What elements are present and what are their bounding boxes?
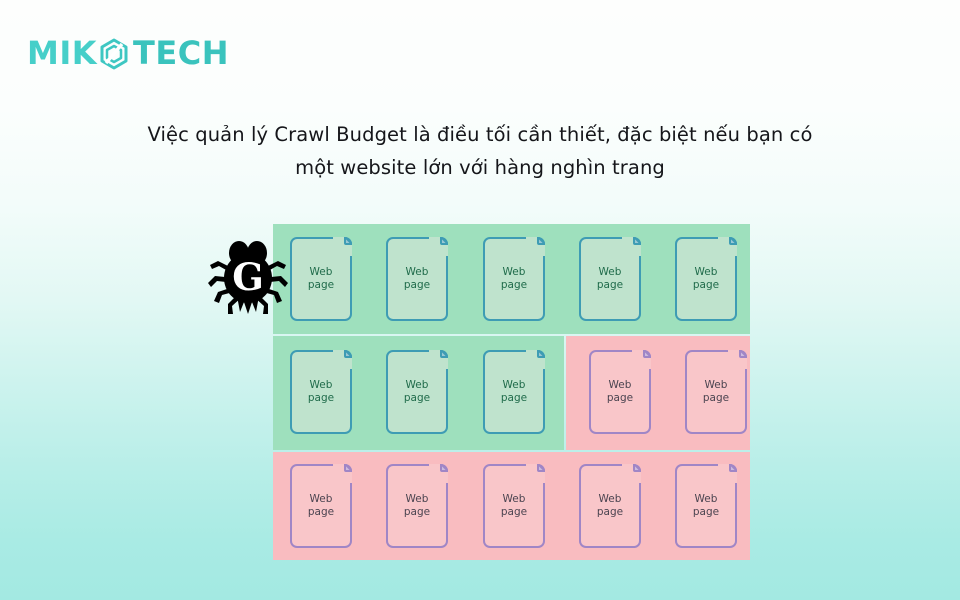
- page-title: Việc quản lý Crawl Budget là điều tối cầ…: [0, 118, 960, 184]
- web-page-card-label: Webpage: [308, 266, 334, 293]
- web-page-card: Webpage: [579, 464, 641, 548]
- web-page-card: Webpage: [290, 237, 352, 321]
- page-fold-corner-icon: [718, 464, 737, 483]
- page-fold-corner-icon: [429, 464, 448, 483]
- web-page-card-label: Webpage: [703, 379, 729, 406]
- web-page-card: Webpage: [386, 464, 448, 548]
- web-page-card-label: Webpage: [501, 493, 527, 520]
- web-page-card: Webpage: [589, 350, 651, 434]
- web-page-card-label: Webpage: [693, 493, 719, 520]
- web-page-card-label: Webpage: [308, 379, 334, 406]
- web-page-card-label: Webpage: [404, 266, 430, 293]
- page-fold-corner-icon: [526, 464, 545, 483]
- google-spider-crawler-icon: G: [206, 238, 290, 320]
- page-fold-corner-icon: [728, 350, 747, 369]
- web-page-card: Webpage: [290, 464, 352, 548]
- page-fold-corner-icon: [429, 237, 448, 256]
- page-fold-corner-icon: [333, 237, 352, 256]
- web-page-card: Webpage: [386, 237, 448, 321]
- web-page-card-label: Webpage: [607, 379, 633, 406]
- web-page-card: Webpage: [675, 464, 737, 548]
- web-page-card-label: Webpage: [308, 493, 334, 520]
- web-page-card: Webpage: [483, 350, 545, 434]
- page-fold-corner-icon: [622, 237, 641, 256]
- logo-text-mik: MIK: [27, 37, 97, 69]
- web-page-card-label: Webpage: [501, 379, 527, 406]
- web-page-card-label: Webpage: [597, 266, 623, 293]
- page-fold-corner-icon: [622, 464, 641, 483]
- page-fold-corner-icon: [333, 350, 352, 369]
- web-page-card: Webpage: [386, 350, 448, 434]
- web-page-card: Webpage: [579, 237, 641, 321]
- page-title-line-1: Việc quản lý Crawl Budget là điều tối cầ…: [0, 118, 960, 151]
- page-fold-corner-icon: [632, 350, 651, 369]
- svg-text:G: G: [232, 255, 264, 299]
- hexagon-o-icon: [99, 38, 129, 70]
- web-page-card-label: Webpage: [404, 379, 430, 406]
- page-fold-corner-icon: [526, 237, 545, 256]
- page-fold-corner-icon: [333, 464, 352, 483]
- web-page-card: Webpage: [483, 464, 545, 548]
- page-title-line-2: một website lớn với hàng nghìn trang: [0, 151, 960, 184]
- web-page-card: Webpage: [685, 350, 747, 434]
- web-page-card-label: Webpage: [693, 266, 719, 293]
- web-page-card: Webpage: [483, 237, 545, 321]
- web-page-card: Webpage: [290, 350, 352, 434]
- page-fold-corner-icon: [526, 350, 545, 369]
- crawl-budget-diagram: WebpageWebpageWebpageWebpageWebpageWebpa…: [273, 224, 750, 560]
- web-page-card-label: Webpage: [501, 266, 527, 293]
- web-page-card-label: Webpage: [404, 493, 430, 520]
- logo-text-tech: TECH: [133, 37, 229, 69]
- page-fold-corner-icon: [429, 350, 448, 369]
- miko-tech-logo: MIK TECH: [27, 33, 229, 73]
- slide-canvas: MIK TECH Việc quản lý Crawl Budget là đi…: [0, 0, 960, 600]
- web-page-card: Webpage: [675, 237, 737, 321]
- web-page-card-label: Webpage: [597, 493, 623, 520]
- page-fold-corner-icon: [718, 237, 737, 256]
